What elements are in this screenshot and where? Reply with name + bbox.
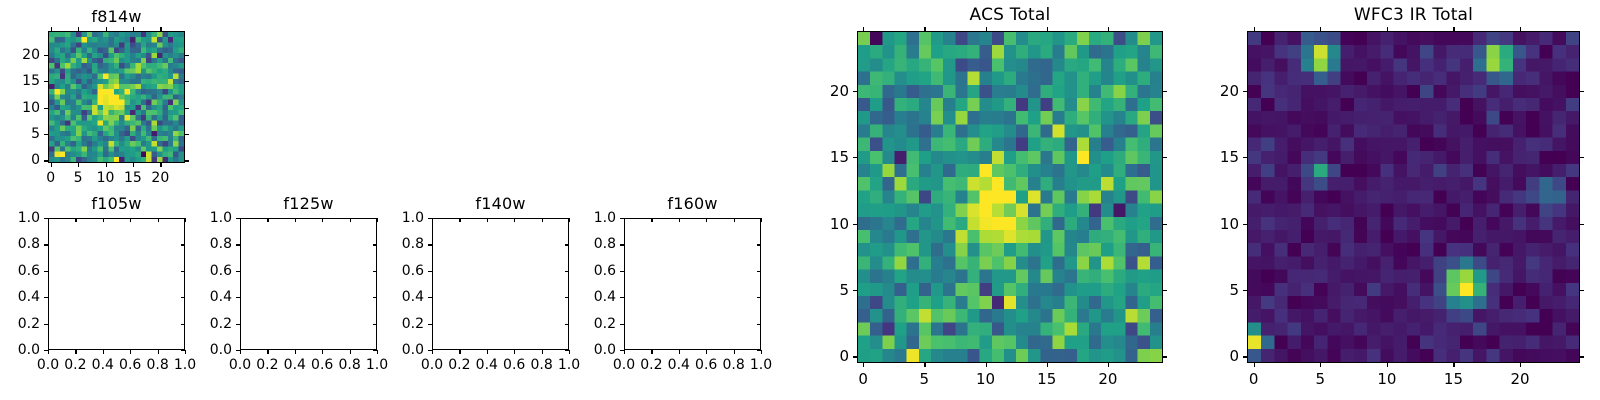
f140w-ytick-label: 1.0	[340, 210, 424, 226]
f140w-ytick	[428, 271, 432, 272]
wfc3-ir-total-xtick	[1320, 363, 1321, 367]
acs-total-xtick-label: 20	[1098, 370, 1117, 388]
f140w-xtick	[514, 350, 515, 354]
f814w-xtick-top	[160, 27, 161, 31]
f105w-xtick-top	[75, 218, 76, 222]
f814w-ytick-label: 20	[0, 47, 40, 63]
f140w-xtick	[487, 350, 488, 354]
f105w-xtick	[75, 350, 76, 354]
f140w-xtick-label: 0.0	[421, 357, 443, 373]
f814w-ytick-right	[185, 108, 189, 109]
f814w-xtick-top	[106, 27, 107, 31]
f125w-ytick-label: 0.4	[148, 289, 232, 305]
f140w-xtick	[459, 350, 460, 354]
acs-total-xtick	[986, 363, 987, 367]
acs-total-xtick-label: 10	[976, 370, 995, 388]
f160w-xtick	[679, 350, 680, 354]
f814w-ytick-right	[185, 55, 189, 56]
f140w-xtick-label: 0.6	[503, 357, 525, 373]
f814w-xtick-label: 0	[46, 170, 55, 186]
f160w-ytick-right	[757, 297, 761, 298]
f140w-xtick-label: 0.4	[476, 357, 498, 373]
f160w-ytick-right	[757, 324, 761, 325]
f160w-ytick	[620, 297, 624, 298]
f125w-ytick-label: 0.0	[148, 342, 232, 358]
f160w-ytick-right	[757, 271, 761, 272]
wfc3-ir-total-axes[interactable]	[1247, 31, 1580, 363]
f814w-ytick	[44, 108, 48, 109]
acs-total-ytick-label: 10	[765, 215, 849, 233]
f105w-ytick-label: 0.6	[0, 263, 40, 279]
f125w-xtick-label: 1.0	[366, 357, 388, 373]
f814w-title: f814w	[48, 7, 185, 26]
f125w-xtick	[322, 350, 323, 354]
f105w-xtick-label: 0.0	[37, 357, 59, 373]
f814w-ytick-label: 0	[0, 152, 40, 168]
f125w-xtick-label: 0.0	[229, 357, 251, 373]
f160w-ytick-right	[757, 244, 761, 245]
acs-total-xtick-label: 5	[920, 370, 930, 388]
wfc3-ir-total-xtick-top	[1254, 27, 1255, 31]
acs-total-xtick-top	[986, 27, 987, 31]
acs-total-ytick	[853, 290, 857, 291]
f814w-ytick-label: 10	[0, 100, 40, 116]
f160w-ytick	[620, 271, 624, 272]
wfc3-ir-total-ytick	[1243, 224, 1247, 225]
f160w-xtick	[651, 350, 652, 354]
f814w-xtick	[51, 163, 52, 167]
f105w-xtick-top	[103, 218, 104, 222]
f160w-xtick-label: 0.6	[695, 357, 717, 373]
f814w-ytick	[44, 134, 48, 135]
wfc3-ir-total-ytick	[1243, 157, 1247, 158]
f160w-xtick-top	[761, 218, 762, 222]
f125w-xtick	[267, 350, 268, 354]
f160w-axes[interactable]	[624, 218, 761, 350]
f160w-ytick-label: 0.0	[532, 342, 616, 358]
f125w-xtick	[295, 350, 296, 354]
f160w-ytick	[620, 244, 624, 245]
f105w-xtick	[103, 350, 104, 354]
f140w-xtick-label: 0.2	[448, 357, 470, 373]
wfc3-ir-total-xtick-label: 20	[1511, 370, 1530, 388]
wfc3-ir-total-xtick-top	[1453, 27, 1454, 31]
acs-total-heatmap-image	[858, 32, 1162, 362]
f814w-heatmap-image	[49, 32, 184, 162]
acs-total-xtick	[863, 363, 864, 367]
acs-total-axes[interactable]	[857, 31, 1163, 363]
acs-total-xtick-label: 15	[1037, 370, 1056, 388]
acs-total-ytick	[853, 91, 857, 92]
acs-total-xtick-label: 0	[858, 370, 868, 388]
f160w-xtick	[706, 350, 707, 354]
acs-total-ytick	[853, 157, 857, 158]
f105w-xtick-label: 1.0	[174, 357, 196, 373]
f160w-ytick-label: 0.8	[532, 236, 616, 252]
f160w-ytick	[620, 324, 624, 325]
f125w-xtick-label: 0.2	[256, 357, 278, 373]
acs-total-title: ACS Total	[857, 5, 1163, 25]
f140w-xtick	[432, 350, 433, 354]
wfc3-ir-total-xtick-label: 5	[1315, 370, 1325, 388]
f160w-title: f160w	[624, 194, 761, 213]
f105w-xtick-label: 0.2	[64, 357, 86, 373]
acs-total-ytick-label: 5	[765, 281, 849, 299]
f125w-ytick	[236, 271, 240, 272]
f125w-xtick-top	[322, 218, 323, 222]
wfc3-ir-total-ytick	[1243, 356, 1247, 357]
f105w-xtick	[48, 350, 49, 354]
f160w-xtick-label: 0.0	[613, 357, 635, 373]
wfc3-ir-total-ytick-label: 15	[1155, 148, 1239, 166]
acs-total-xtick-top	[924, 27, 925, 31]
f105w-ytick-label: 0.8	[0, 236, 40, 252]
f814w-ytick-right	[185, 160, 189, 161]
f140w-ytick	[428, 324, 432, 325]
f814w-ytick-right	[185, 81, 189, 82]
f125w-xtick-top	[295, 218, 296, 222]
f814w-xtick-top	[78, 27, 79, 31]
f160w-xtick-top	[679, 218, 680, 222]
wfc3-ir-total-xtick-label: 0	[1249, 370, 1259, 388]
f160w-xtick	[761, 350, 762, 354]
f140w-ytick-label: 0.6	[340, 263, 424, 279]
f125w-ytick	[236, 244, 240, 245]
f105w-ytick-label: 0.4	[0, 289, 40, 305]
acs-total-xtick-top	[1108, 27, 1109, 31]
wfc3-ir-total-ytick-right	[1580, 91, 1584, 92]
acs-total-xtick	[924, 363, 925, 367]
wfc3-ir-total-ytick-label: 5	[1155, 281, 1239, 299]
f814w-ytick-label: 5	[0, 126, 40, 142]
f814w-ytick-label: 15	[0, 73, 40, 89]
wfc3-ir-total-heatmap-image	[1248, 32, 1579, 362]
f814w-ytick	[44, 81, 48, 82]
f140w-ytick-label: 0.4	[340, 289, 424, 305]
f160w-xtick-top	[651, 218, 652, 222]
wfc3-ir-total-xtick	[1520, 363, 1521, 367]
f125w-ytick-label: 0.6	[148, 263, 232, 279]
f105w-ytick-label: 1.0	[0, 210, 40, 226]
acs-total-xtick-top	[1047, 27, 1048, 31]
wfc3-ir-total-xtick-label: 10	[1377, 370, 1396, 388]
f125w-xtick-top	[240, 218, 241, 222]
f125w-xtick-label: 0.8	[338, 357, 360, 373]
wfc3-ir-total-ytick-label: 10	[1155, 215, 1239, 233]
f814w-ytick	[44, 55, 48, 56]
f814w-xtick-top	[51, 27, 52, 31]
f105w-ytick-label: 0.0	[0, 342, 40, 358]
f814w-xtick-label: 15	[124, 170, 142, 186]
f814w-xtick	[160, 163, 161, 167]
wfc3-ir-total-ytick-right	[1580, 157, 1584, 158]
acs-total-xtick-top	[863, 27, 864, 31]
f125w-ytick-label: 0.2	[148, 316, 232, 332]
f140w-xtick-top	[432, 218, 433, 222]
f105w-ytick	[44, 324, 48, 325]
wfc3-ir-total-xtick-top	[1387, 27, 1388, 31]
acs-total-ytick-label: 0	[765, 347, 849, 365]
wfc3-ir-total-xtick	[1254, 363, 1255, 367]
f814w-xtick	[78, 163, 79, 167]
acs-total-ytick-label: 20	[765, 82, 849, 100]
f814w-ytick	[44, 160, 48, 161]
wfc3-ir-total-ytick-right	[1580, 290, 1584, 291]
wfc3-ir-total-title: WFC3 IR Total	[1247, 5, 1580, 25]
f125w-ytick-label: 1.0	[148, 210, 232, 226]
wfc3-ir-total-ytick-right	[1580, 224, 1584, 225]
wfc3-ir-total-ytick	[1243, 91, 1247, 92]
wfc3-ir-total-ytick-right	[1580, 356, 1584, 357]
wfc3-ir-total-xtick	[1453, 363, 1454, 367]
f160w-ytick-label: 0.4	[532, 289, 616, 305]
acs-total-ytick-label: 15	[765, 148, 849, 166]
f140w-xtick-top	[487, 218, 488, 222]
f160w-xtick-top	[624, 218, 625, 222]
wfc3-ir-total-ytick	[1243, 290, 1247, 291]
f105w-ytick	[44, 244, 48, 245]
wfc3-ir-total-ytick-label: 20	[1155, 82, 1239, 100]
f125w-xtick-label: 0.4	[284, 357, 306, 373]
f105w-ytick	[44, 297, 48, 298]
f814w-xtick	[106, 163, 107, 167]
f105w-xtick-label: 0.6	[119, 357, 141, 373]
f814w-xtick	[133, 163, 134, 167]
acs-total-xtick	[1108, 363, 1109, 367]
f140w-ytick-label: 0.8	[340, 236, 424, 252]
wfc3-ir-total-xtick	[1387, 363, 1388, 367]
f160w-xtick-label: 0.2	[640, 357, 662, 373]
f160w-xtick-label: 0.8	[722, 357, 744, 373]
f125w-xtick	[240, 350, 241, 354]
f160w-ytick-label: 0.6	[532, 263, 616, 279]
f105w-xtick	[130, 350, 131, 354]
f160w-ytick-right	[757, 350, 761, 351]
f105w-xtick-label: 0.4	[92, 357, 114, 373]
f140w-xtick-top	[459, 218, 460, 222]
f105w-xtick-label: 0.8	[146, 357, 168, 373]
wfc3-ir-total-xtick-top	[1520, 27, 1521, 31]
f814w-ytick-right	[185, 134, 189, 135]
f105w-ytick-label: 0.2	[0, 316, 40, 332]
f814w-xtick-label: 10	[97, 170, 115, 186]
acs-total-ytick	[853, 356, 857, 357]
f814w-xtick-label: 20	[151, 170, 169, 186]
f140w-xtick-top	[514, 218, 515, 222]
f105w-ytick	[44, 271, 48, 272]
f140w-xtick-label: 0.8	[530, 357, 552, 373]
f140w-ytick-label: 0.0	[340, 342, 424, 358]
acs-total-ytick	[853, 224, 857, 225]
f125w-xtick-top	[267, 218, 268, 222]
f105w-xtick-top	[130, 218, 131, 222]
f125w-ytick-label: 0.8	[148, 236, 232, 252]
f140w-xtick-label: 1.0	[558, 357, 580, 373]
f125w-ytick	[236, 324, 240, 325]
f105w-xtick-top	[48, 218, 49, 222]
f160w-xtick-label: 0.4	[668, 357, 690, 373]
f160w-ytick-label: 1.0	[532, 210, 616, 226]
f160w-xtick	[624, 350, 625, 354]
f140w-ytick-label: 0.2	[340, 316, 424, 332]
f814w-axes[interactable]	[48, 31, 185, 163]
f140w-ytick	[428, 297, 432, 298]
f160w-xtick	[734, 350, 735, 354]
f125w-ytick	[236, 297, 240, 298]
f160w-xtick-top	[706, 218, 707, 222]
f814w-xtick-label: 5	[74, 170, 83, 186]
wfc3-ir-total-xtick-top	[1320, 27, 1321, 31]
wfc3-ir-total-xtick-label: 15	[1444, 370, 1463, 388]
f125w-xtick-label: 0.6	[311, 357, 333, 373]
f140w-ytick	[428, 244, 432, 245]
wfc3-ir-total-ytick-label: 0	[1155, 347, 1239, 365]
f814w-xtick-top	[133, 27, 134, 31]
f160w-ytick-label: 0.2	[532, 316, 616, 332]
f160w-xtick-top	[734, 218, 735, 222]
acs-total-xtick	[1047, 363, 1048, 367]
